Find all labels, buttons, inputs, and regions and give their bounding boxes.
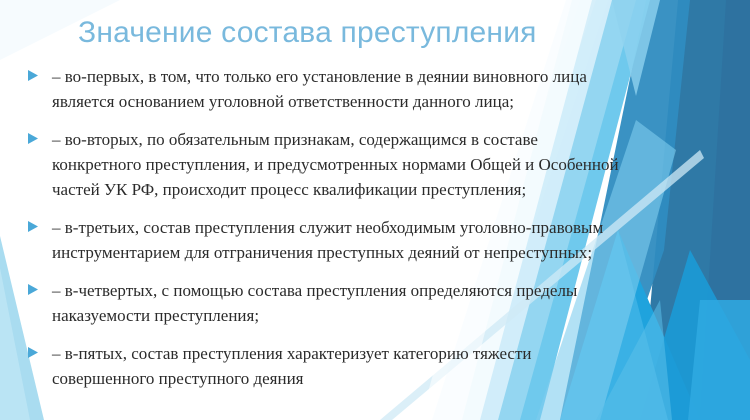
presentation-slide: Значение состава преступления – во-первы…	[0, 0, 750, 420]
triangle-right-icon	[26, 127, 52, 145]
list-item-text: – в-пятых, состав преступления характери…	[52, 341, 622, 391]
list-item-text: – во-вторых, по обязательным признакам, …	[52, 127, 622, 202]
list-item: – в-третьих, состав преступления служит …	[26, 215, 622, 265]
list-item: – во-вторых, по обязательным признакам, …	[26, 127, 622, 202]
triangle-right-icon	[26, 215, 52, 233]
triangle-right-icon	[26, 341, 52, 359]
list-item: – в-четвертых, с помощью состава преступ…	[26, 278, 622, 328]
list-item-text: – в-третьих, состав преступления служит …	[52, 215, 622, 265]
page-title: Значение состава преступления	[78, 16, 537, 49]
list-item: – во-первых, в том, что только его устан…	[26, 64, 622, 114]
triangle-right-icon	[26, 278, 52, 296]
bullet-list: – во-первых, в том, что только его устан…	[26, 64, 622, 404]
polygon-dark-right	[672, 0, 750, 420]
triangle-right-icon	[26, 64, 52, 82]
slide-title-bar: Значение состава преступления	[78, 8, 638, 56]
list-item-text: – в-четвертых, с помощью состава преступ…	[52, 278, 622, 328]
polygon-bright-cyan-lower-3	[688, 300, 750, 420]
polygon-dark-right-2	[640, 0, 726, 420]
list-item: – в-пятых, состав преступления характери…	[26, 341, 622, 391]
polygon-bright-cyan-lower-2	[640, 250, 750, 420]
list-item-text: – во-первых, в том, что только его устан…	[52, 64, 622, 114]
